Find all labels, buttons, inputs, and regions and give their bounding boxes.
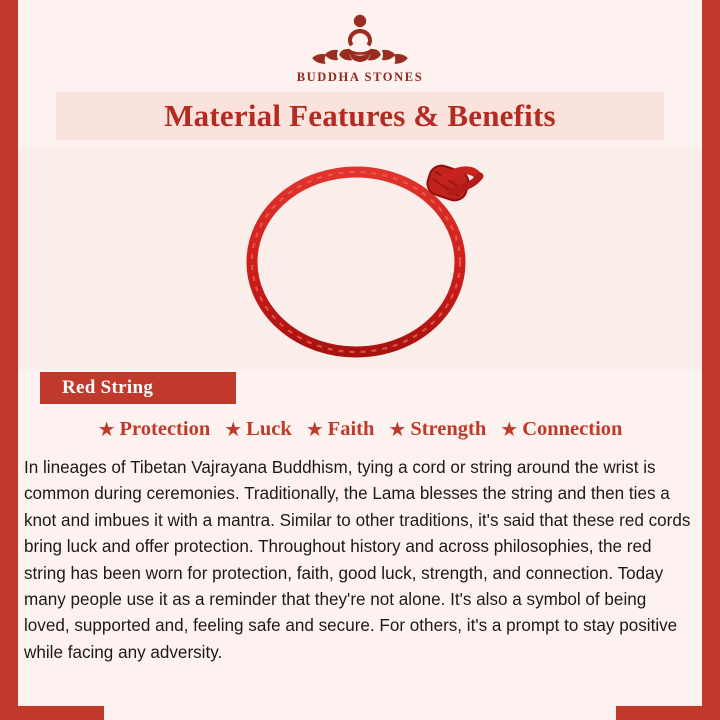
- feature-item-faith: ★ Faith: [299, 418, 382, 441]
- product-label-text: Red String: [62, 377, 153, 399]
- lotus-meditation-figure-icon: [300, 10, 420, 68]
- star-icon: ★: [500, 420, 518, 440]
- star-icon: ★: [98, 420, 116, 440]
- brand-logo: BUDDHA STONES: [18, 10, 702, 85]
- red-braided-string-bracelet-image: [210, 162, 510, 362]
- frame-right-band: [702, 0, 720, 720]
- feature-label: Connection: [522, 418, 622, 441]
- star-icon: ★: [224, 420, 242, 440]
- feature-label: Luck: [246, 418, 292, 441]
- feature-item-luck: ★ Luck: [217, 418, 299, 441]
- feature-item-protection: ★ Protection: [91, 418, 218, 441]
- description-text: In lineages of Tibetan Vajrayana Buddhis…: [24, 455, 702, 666]
- infographic-page: BUDDHA STONES Material Features & Benefi…: [0, 0, 720, 720]
- feature-item-strength: ★ Strength: [381, 418, 493, 441]
- brand-name: BUDDHA STONES: [297, 70, 424, 85]
- feature-item-connection: ★ Connection: [493, 418, 629, 441]
- header: BUDDHA STONES Material Features & Benefi…: [18, 0, 702, 148]
- frame-corner-bottom-left: [18, 706, 104, 720]
- feature-label: Faith: [328, 418, 375, 441]
- feature-label: Strength: [410, 418, 486, 441]
- feature-label: Protection: [120, 418, 211, 441]
- product-image-panel: [18, 148, 702, 370]
- frame-left-band: [0, 0, 18, 720]
- title-banner: Material Features & Benefits: [56, 92, 664, 140]
- page-title: Material Features & Benefits: [164, 98, 556, 134]
- frame-corner-bottom-right: [616, 706, 702, 720]
- star-icon: ★: [306, 420, 324, 440]
- feature-list: ★ Protection ★ Luck ★ Faith ★ Strength ★…: [18, 418, 702, 441]
- star-icon: ★: [388, 420, 406, 440]
- product-label-ribbon: Red String: [40, 372, 236, 404]
